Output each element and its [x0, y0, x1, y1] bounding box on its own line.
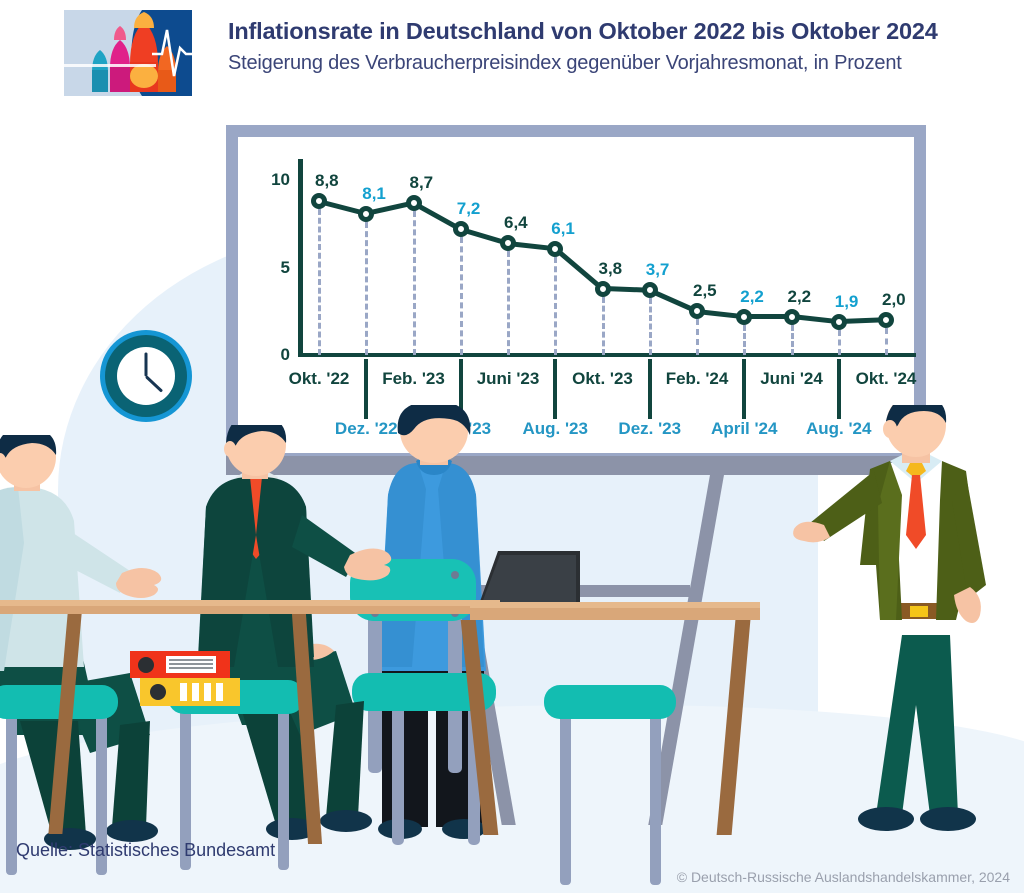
data-label: 2,0	[882, 290, 906, 310]
y-tick-10: 10	[248, 170, 290, 190]
data-label: 6,1	[551, 219, 575, 239]
y-axis	[298, 159, 303, 355]
data-point-marker	[689, 303, 705, 319]
data-label: 8,7	[410, 173, 434, 193]
x-label-bottom: April '24	[699, 419, 789, 439]
data-point-marker	[547, 241, 563, 257]
y-tick-0: 0	[248, 345, 290, 365]
page-title: Inflationsrate in Deutschland von Oktobe…	[228, 18, 1018, 45]
data-point-marker	[311, 193, 327, 209]
data-label: 7,2	[457, 199, 481, 219]
x-axis-separator	[553, 359, 557, 419]
gridline	[885, 328, 891, 355]
gridline	[696, 319, 702, 355]
gridline	[791, 325, 797, 355]
x-label-top: Feb. '24	[652, 369, 742, 389]
page-subtitle: Steigerung des Verbraucherpreisindex geg…	[228, 52, 1018, 75]
x-label-top: Feb. '23	[369, 369, 459, 389]
data-point-marker	[784, 309, 800, 325]
data-label: 2,2	[788, 287, 812, 307]
gridline	[743, 325, 749, 355]
ahk-logo	[64, 10, 192, 96]
data-label: 8,1	[362, 184, 386, 204]
gridline	[318, 209, 324, 355]
x-axis-separator	[648, 359, 652, 419]
x-axis-separator	[742, 359, 746, 419]
table-edge-left	[0, 600, 500, 606]
gridline	[507, 251, 513, 355]
x-label-top: Okt. '24	[841, 369, 931, 389]
infographic-canvas: Inflationsrate in Deutschland von Oktobe…	[0, 0, 1024, 893]
clock-minute-hand	[145, 353, 148, 377]
gridline	[649, 298, 655, 355]
data-point-marker	[406, 195, 422, 211]
chair-right	[530, 665, 710, 893]
source-note: Quelle: Statistisches Bundesamt	[16, 840, 275, 861]
x-label-top: Juni '23	[463, 369, 553, 389]
x-label-top: Juni '24	[747, 369, 837, 389]
gridline	[413, 211, 419, 355]
y-tick-5: 5	[248, 258, 290, 278]
standing-presenter	[790, 405, 1024, 855]
data-point-marker	[831, 314, 847, 330]
data-point-marker	[595, 281, 611, 297]
data-point-marker	[453, 221, 469, 237]
data-point-marker	[736, 309, 752, 325]
data-point-marker	[500, 235, 516, 251]
gridline	[365, 222, 371, 355]
gridline	[602, 297, 608, 355]
copyright-note: © Deutsch-Russische Auslandshandelskamme…	[677, 869, 1010, 885]
gridline	[460, 237, 466, 355]
data-point-marker	[358, 206, 374, 222]
illustration-scene: 0510 8,88,18,77,26,46,13,83,72,52,22,21,…	[0, 105, 1024, 850]
data-label: 3,8	[599, 259, 623, 279]
gridline	[838, 330, 844, 355]
data-label: 6,4	[504, 213, 528, 233]
data-label: 2,5	[693, 281, 717, 301]
data-point-marker	[878, 312, 894, 328]
data-label: 1,9	[835, 292, 859, 312]
binder-stack	[126, 651, 242, 707]
data-label: 2,2	[740, 287, 764, 307]
x-label-bottom: Dez. '23	[605, 419, 695, 439]
x-label-top: Okt. '22	[274, 369, 364, 389]
x-label-top: Okt. '23	[558, 369, 648, 389]
table-surface-right	[470, 608, 760, 620]
gridline	[554, 257, 560, 355]
data-label: 3,7	[646, 260, 670, 280]
data-label: 8,8	[315, 171, 339, 191]
header: Inflationsrate in Deutschland von Oktobe…	[0, 0, 1024, 108]
